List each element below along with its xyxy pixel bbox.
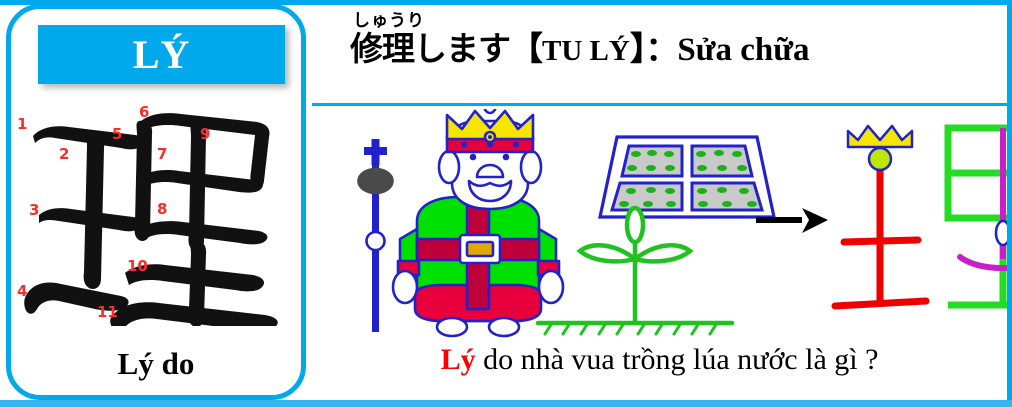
headline-bracket-open: 【 [510,29,542,68]
ly-badge: LÝ [38,25,285,84]
right-arrow [756,208,828,233]
kanji-card: LÝ [6,4,306,400]
ly-badge-label: LÝ [133,35,191,75]
headline-romanization: TU LÝ [542,35,630,67]
stroke-number-9: 9 [200,125,210,143]
stroke-number-3: 3 [29,201,39,219]
kanji-reading-label: Lý do [11,346,301,382]
stroke-number-10: 10 [127,257,148,275]
stroke-number-2: 2 [59,145,69,163]
stroke-number-11: 11 [97,303,118,321]
stroke-number-1: 1 [17,115,27,133]
caption-question: Lý do nhà vua trồng lúa nước là gì ? [312,343,1007,376]
frame-bottom-border [0,400,1012,407]
furigana-text: しゅうり [353,13,810,30]
stroke-number-5: 5 [112,125,122,143]
rice-seedling [538,208,732,334]
right-panel: しゅうり 修理します【TU LÝ】：Sửa chữa [312,5,1007,400]
king-figure [359,109,564,336]
headline: 修理します【TU LÝ】：Sửa chữa [350,31,810,68]
header-row: しゅうり 修理します【TU LÝ】：Sửa chữa [312,5,1007,103]
headline-bracket-close: 】 [630,29,646,68]
illustration-area [312,109,1007,339]
stroke-number-4: 4 [17,282,27,300]
flashcard-root: LÝ [0,0,1012,407]
village-radical-ri [948,128,1007,305]
kanji-stroke-diagram: 1 2 3 4 5 6 7 8 9 10 11 [11,91,301,326]
headline-colon: ： [645,29,677,68]
caption-rest: do nhà vua trồng lúa nước là gì ? [476,343,879,376]
stroke-number-6: 6 [139,103,149,121]
headline-vietnamese: Sửa chữa [677,32,809,68]
caption-highlight: Lý [441,343,476,376]
stroke-number-8: 8 [157,200,167,218]
frame-right-border [1007,0,1012,407]
king-radical-ou [835,126,926,306]
headline-japanese: 修理します [350,29,510,68]
header-divider [312,103,1007,106]
stroke-number-7: 7 [157,145,167,163]
rice-paddy-field [600,137,774,217]
